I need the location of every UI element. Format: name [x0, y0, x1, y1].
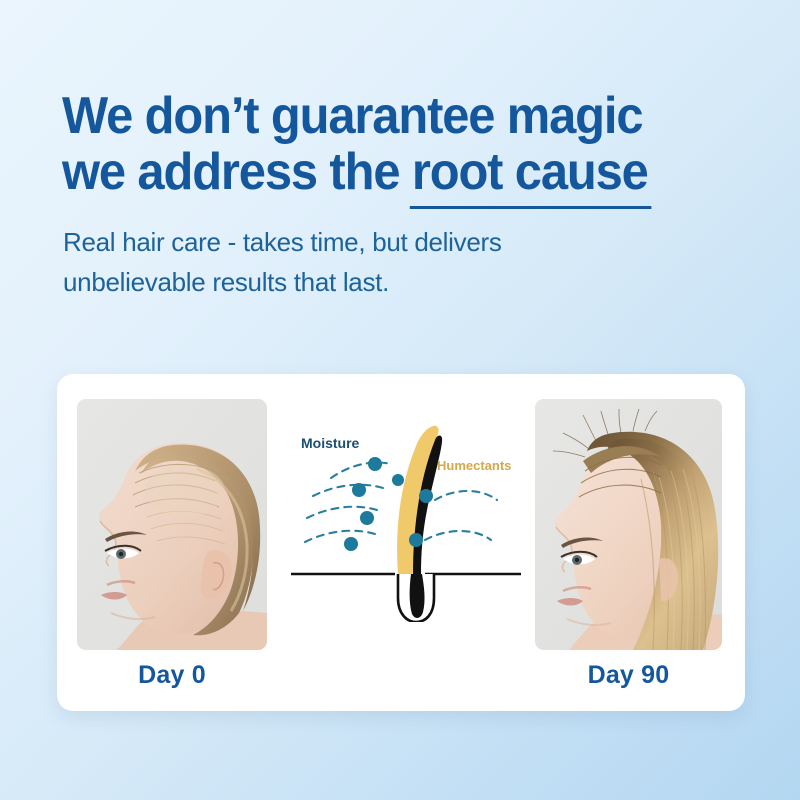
before-panel: Day 0 [77, 399, 267, 650]
headline-line-1: We don’t guarantee magic [62, 88, 720, 144]
hair-follicle-diagram: Moisture Humectants [285, 422, 533, 622]
after-caption: Day 90 [535, 661, 722, 690]
headline-line-2-prefix: we address the [62, 143, 412, 201]
after-photo [535, 399, 722, 650]
after-panel: Day 90 [535, 399, 722, 650]
follicle-root [410, 574, 425, 618]
diagram-label-humectants: Humectants [437, 458, 511, 473]
diagram-label-moisture: Moisture [301, 435, 360, 451]
headline-line-2: we address the root cause [62, 144, 720, 200]
comparison-card: Day 0 [57, 374, 745, 711]
subtitle-line-1: Real hair care - takes time, but deliver… [63, 222, 683, 262]
page-title: We don’t guarantee magic we address the … [62, 88, 720, 200]
moisture-arcs-left [305, 463, 391, 542]
subtitle-line-2: unbelievable results that last. [63, 262, 683, 302]
subtitle: Real hair care - takes time, but deliver… [63, 222, 683, 302]
promo-graphic: We don’t guarantee magic we address the … [0, 0, 800, 800]
headline-emphasis-root-cause: root cause [412, 144, 648, 200]
before-photo [77, 399, 267, 650]
before-caption: Day 0 [77, 661, 267, 690]
humectant-arcs-right [425, 491, 497, 540]
